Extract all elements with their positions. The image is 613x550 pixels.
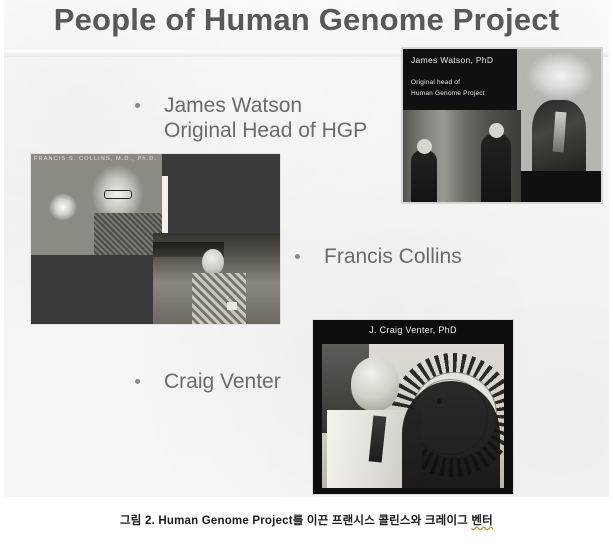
collins-lamp-highlight <box>49 194 77 220</box>
collins-glasses <box>104 190 132 199</box>
watson-caption-sub1: Original head of <box>411 77 493 88</box>
watson-tie <box>553 112 567 153</box>
historic-figure-right <box>481 134 511 202</box>
venter-photo-caption: J. Craig Venter, PhD <box>313 325 513 335</box>
outdoor-person-body <box>192 273 246 324</box>
bullet-item-watson: James WatsonOriginal Head of HGP <box>135 93 367 143</box>
figure-caption-main: 그림 2. Human Genome Project를 이끈 프랜시스 콜린스와… <box>120 515 471 527</box>
bullet-text-watson: James WatsonOriginal Head of HGP <box>164 93 367 143</box>
bullet-text-collins: Francis Collins <box>324 244 462 269</box>
historic-figure-left <box>411 150 437 202</box>
collins-outdoor-image <box>153 233 281 324</box>
watson-historic-image <box>403 110 521 202</box>
watson-caption-name: James Watson, PhD <box>411 55 493 65</box>
outdoor-person-badge <box>227 302 237 310</box>
venter-shadow <box>402 381 500 488</box>
watson-caption-sub2: Human Genome Project <box>411 88 493 99</box>
figure-caption: 그림 2. Human Genome Project를 이끈 프랜시스 콜린스와… <box>0 512 613 528</box>
figure-caption-marked: 벤터 <box>471 515 493 527</box>
bullet-text-venter: Craig Venter <box>164 369 281 394</box>
venter-head <box>351 357 399 411</box>
outdoor-person-head <box>202 249 224 275</box>
photo-venter: J. Craig Venter, PhD <box>312 319 514 495</box>
page-title: People of Human Genome Project <box>4 2 609 38</box>
photo-watson: James Watson, PhD Original head of Human… <box>401 47 603 204</box>
bullet-watson-line2: Original Head of HGP <box>164 119 367 142</box>
bullet-dot-icon <box>135 103 140 108</box>
collins-portrait-image <box>31 154 162 255</box>
slide-canvas: People of Human Genome Project James Wat… <box>4 0 609 497</box>
collins-shirt <box>94 213 162 255</box>
bullet-item-collins: Francis Collins <box>295 244 462 269</box>
bullet-dot-icon <box>295 254 300 259</box>
bullet-item-venter: Craig Venter <box>135 369 281 394</box>
venter-portrait-image <box>322 344 504 488</box>
watson-photo-caption: James Watson, PhD Original head of Human… <box>411 55 493 99</box>
watson-portrait-image <box>517 49 601 171</box>
bullet-dot-icon <box>135 379 140 384</box>
photo-collins: FRANCIS S. COLLINS, M.D., Ph.D. <box>30 153 281 325</box>
collins-photo-caption: FRANCIS S. COLLINS, M.D., Ph.D. <box>34 156 157 162</box>
bullet-watson-line1: James Watson <box>164 94 302 117</box>
